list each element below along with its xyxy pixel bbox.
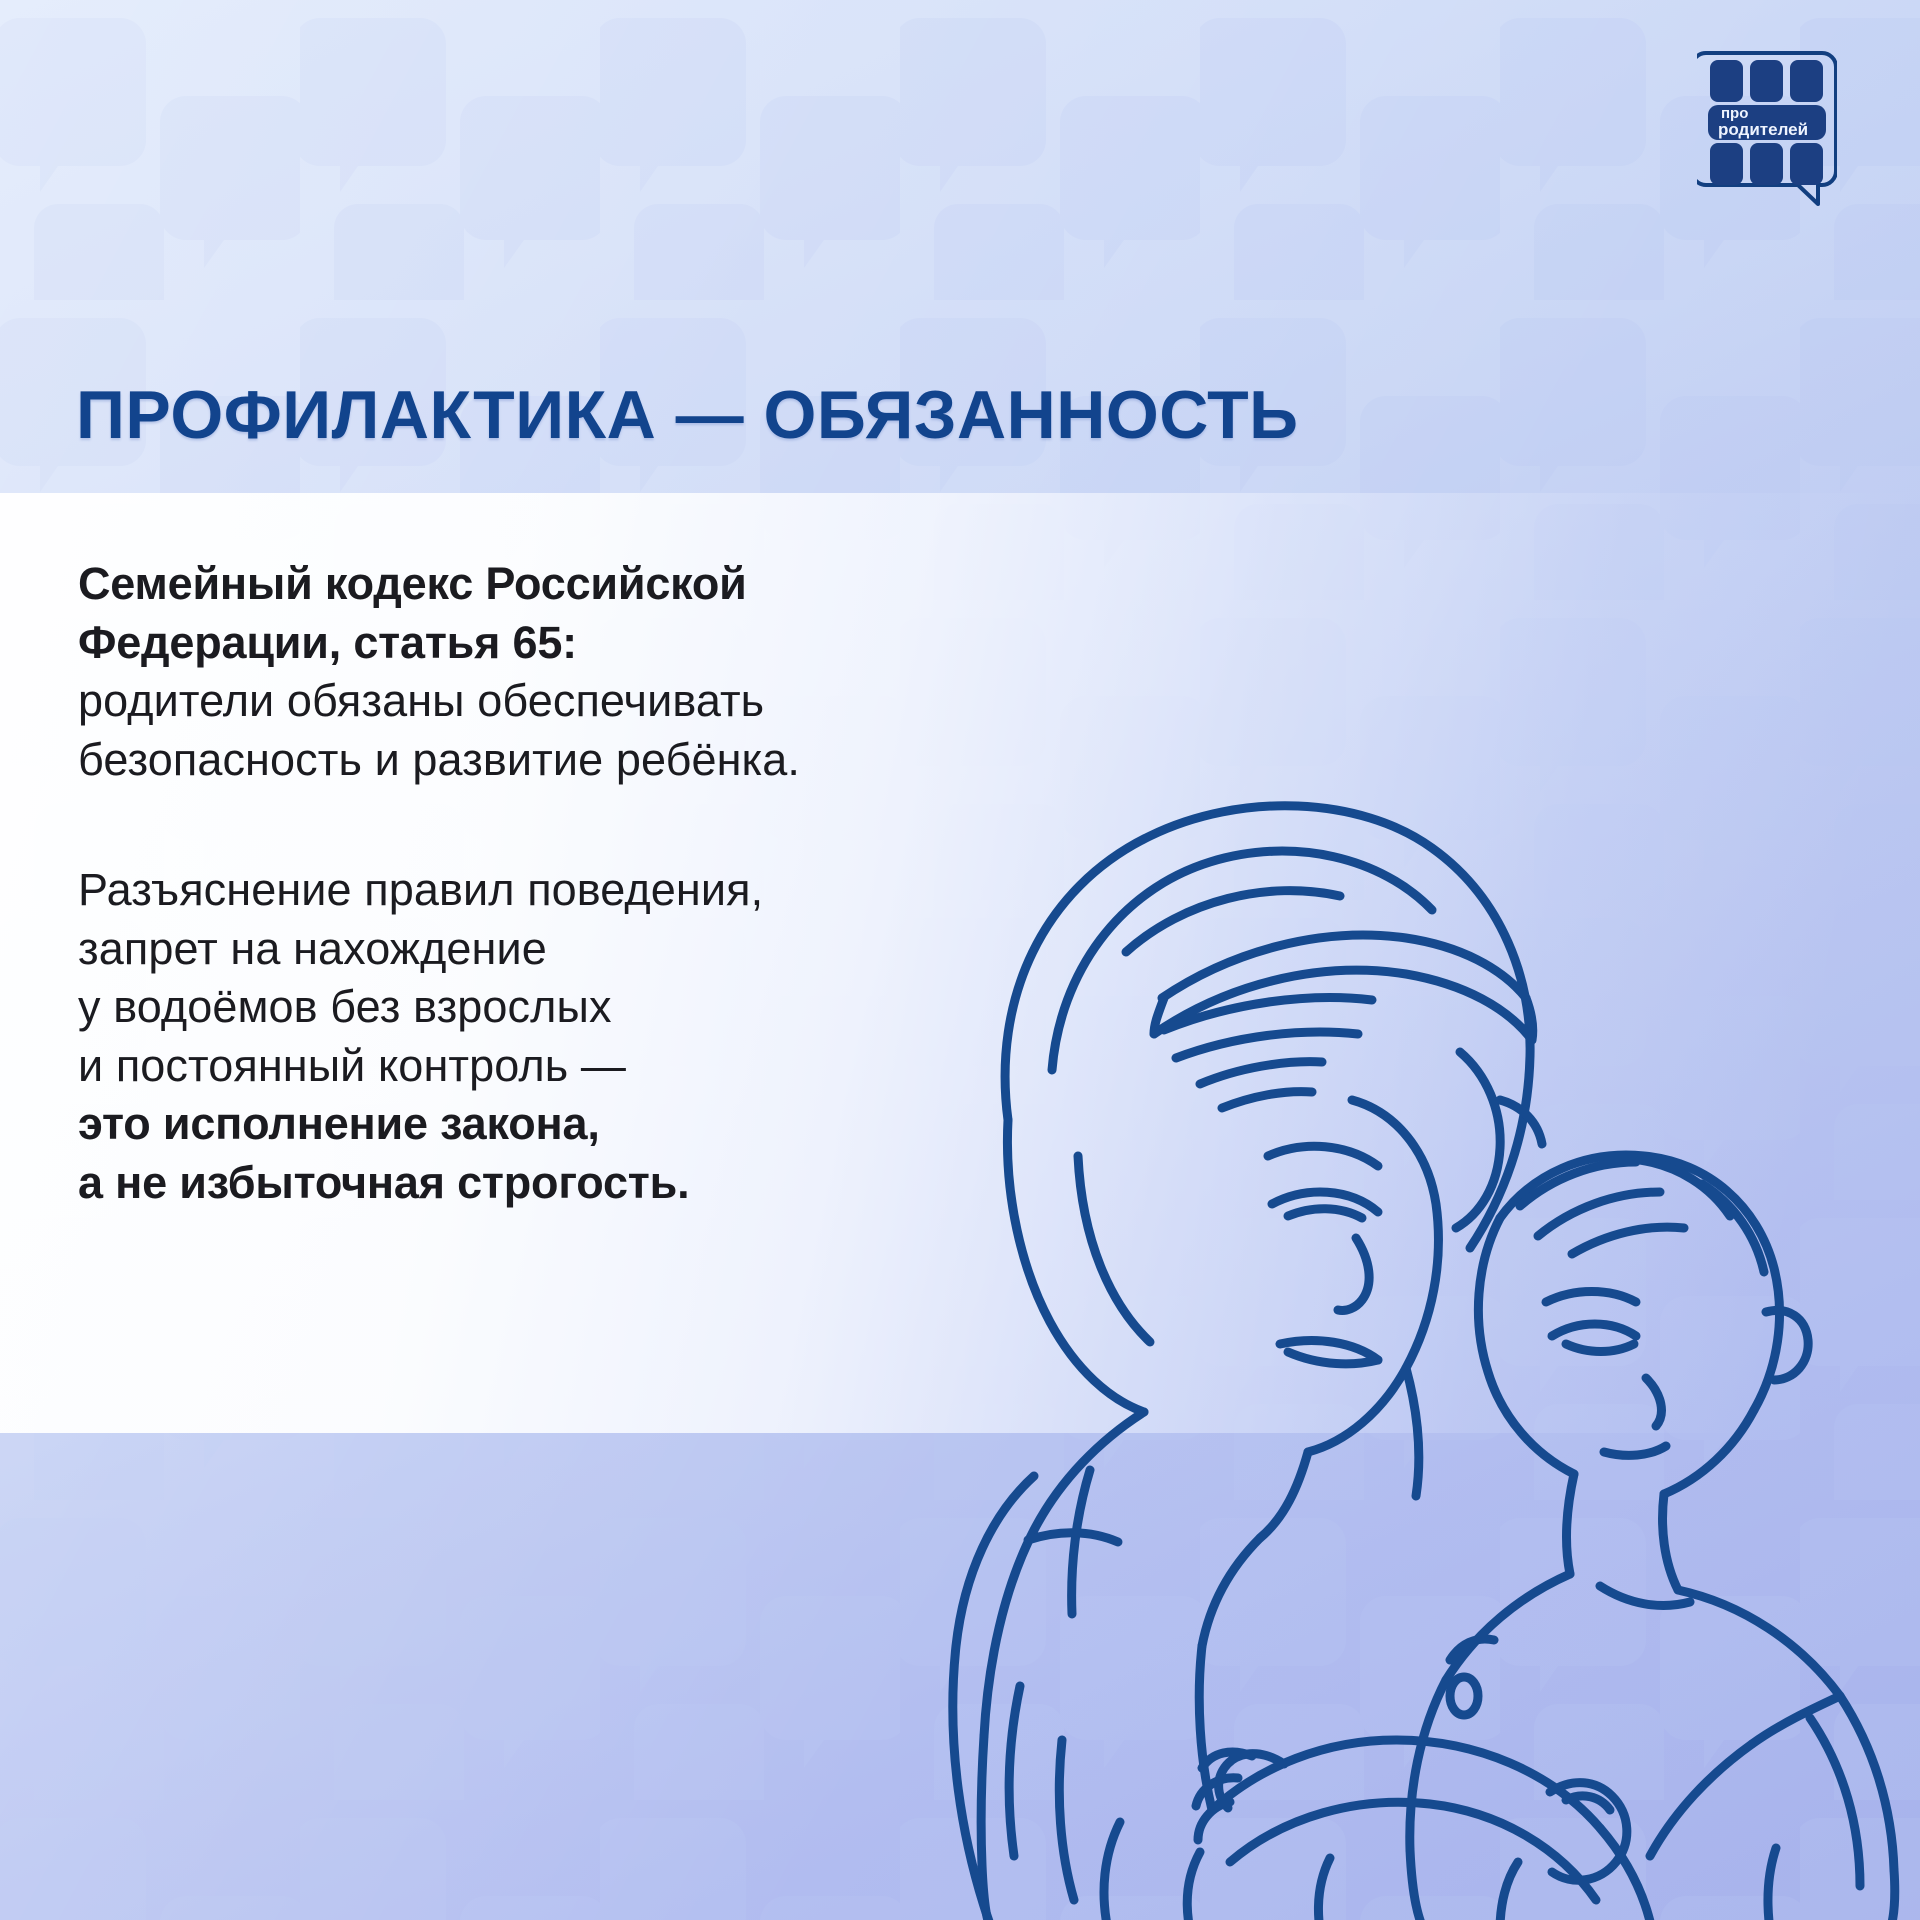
copy-line: запрет на нахождение (78, 920, 958, 979)
copy-line: Федерации, статья 65: (78, 614, 958, 673)
copy-block-1: Семейный кодекс Российской Федерации, ст… (78, 555, 958, 789)
logo-grid-bottom (1710, 143, 1823, 185)
copy-line: безопасность и развитие ребёнка. (78, 731, 958, 790)
logo-text-line2: родителей (1718, 120, 1808, 139)
copy-line: у водоёмов без взрослых (78, 978, 958, 1037)
pro-roditeley-logo[interactable]: про родителей (1697, 48, 1837, 208)
logo-grid-top (1710, 60, 1823, 102)
copy-line: а не избыточная строгость. (78, 1154, 958, 1213)
body-copy: Семейный кодекс Российской Федерации, ст… (78, 555, 958, 1212)
page-title: ПРОФИЛАКТИКА — ОБЯЗАННОСТЬ (76, 380, 1576, 451)
copy-line: Семейный кодекс Российской (78, 555, 958, 614)
copy-spacer (78, 789, 958, 861)
copy-line: Разъяснение правил поведения, (78, 861, 958, 920)
copy-line: родители обязаны обеспечивать (78, 672, 958, 731)
copy-line: и постоянный контроль — (78, 1037, 958, 1096)
poster-canvas: про родителей ПРОФИЛАКТИКА — ОБЯЗАННОСТЬ (0, 0, 1920, 1920)
copy-block-2: Разъяснение правил поведения, запрет на … (78, 861, 958, 1212)
copy-line: это исполнение закона, (78, 1095, 958, 1154)
